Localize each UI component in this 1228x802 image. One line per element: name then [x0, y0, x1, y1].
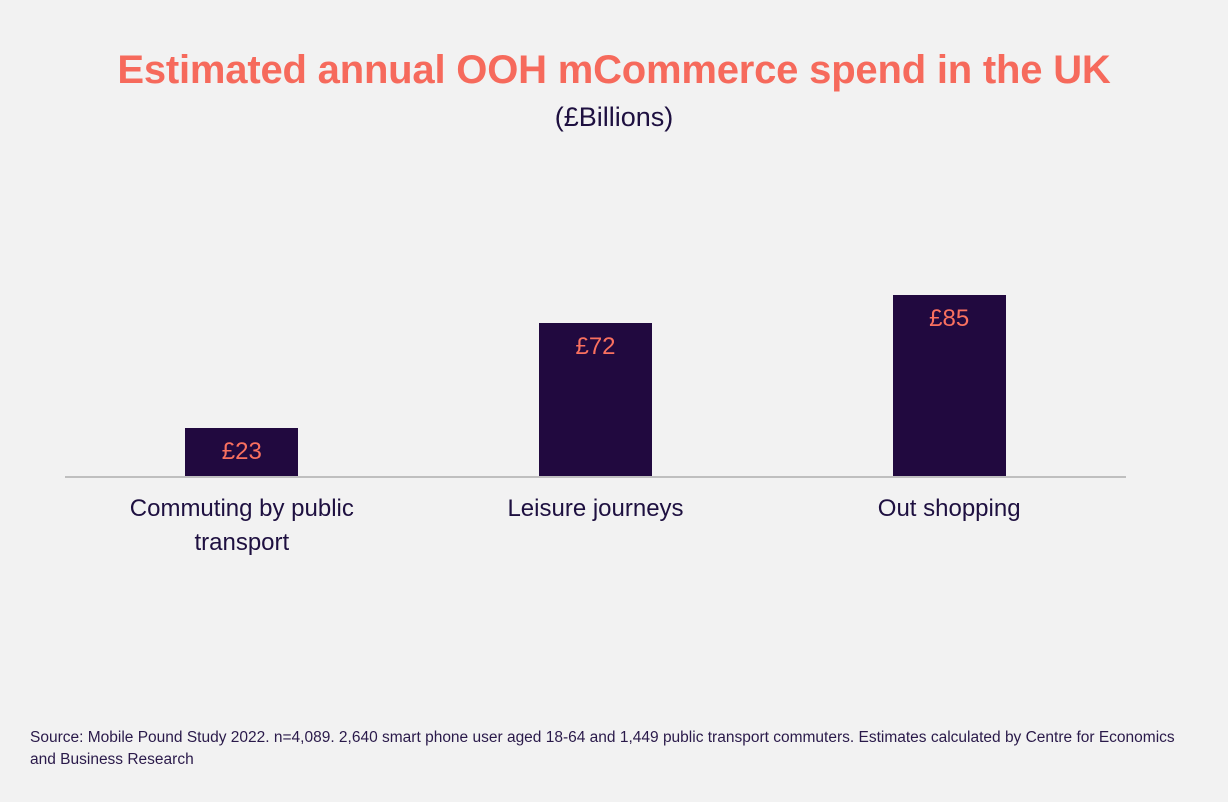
plot-area: £23 £72 £85: [65, 180, 1126, 478]
chart-slide: Estimated annual OOH mCommerce spend in …: [0, 0, 1228, 802]
bar-leisure-journeys[interactable]: £72: [539, 323, 652, 478]
bar-out-shopping[interactable]: £85: [893, 295, 1006, 478]
bar-value-label-1: £72: [539, 335, 652, 359]
chart-subtitle: (£Billions): [0, 101, 1228, 133]
category-label-2: Out shopping: [772, 492, 1126, 559]
bar-slot-2: £85: [772, 180, 1126, 478]
x-axis-line: [65, 476, 1126, 478]
source-footnote: Source: Mobile Pound Study 2022. n=4,089…: [30, 727, 1195, 772]
bar-slot-0: £23: [65, 180, 419, 478]
bar-commuting-by-public-transport[interactable]: £23: [185, 428, 298, 478]
bar-series: £23 £72 £85: [65, 180, 1126, 478]
category-label-1: Leisure journeys: [419, 492, 773, 559]
chart-title: Estimated annual OOH mCommerce spend in …: [0, 48, 1228, 93]
bar-slot-1: £72: [419, 180, 773, 478]
bar-value-label-0: £23: [185, 440, 298, 464]
category-label-0: Commuting by public transport: [65, 492, 419, 559]
category-axis-labels: Commuting by public transport Leisure jo…: [65, 492, 1126, 559]
category-label-text-2: Out shopping: [878, 492, 1021, 526]
chart-header: Estimated annual OOH mCommerce spend in …: [0, 48, 1228, 133]
bar-value-label-2: £85: [893, 307, 1006, 331]
category-label-text-0: Commuting by public transport: [112, 492, 372, 559]
category-label-text-1: Leisure journeys: [507, 492, 683, 526]
